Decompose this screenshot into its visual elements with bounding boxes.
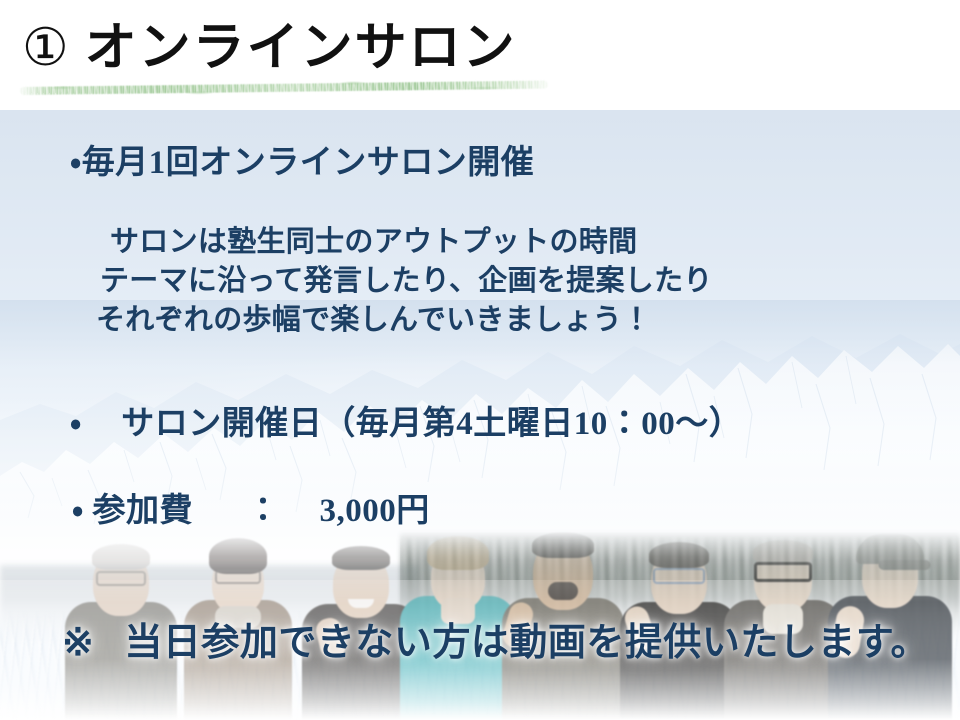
footnote-text: 当日参加できない方は動画を提供いたします。: [124, 622, 929, 664]
title-label: オンラインサロン: [85, 20, 517, 77]
salon-date-text: サロン開催日（毎月第4土曜日10：00～）: [121, 406, 742, 442]
bullet-monthly-salon: ・毎月1回オンラインサロン開催: [70, 142, 534, 184]
fee-colon: ：: [246, 493, 280, 529]
footnote-video-provided: ※ 当日参加できない方は動画を提供いたします。: [62, 618, 929, 668]
bullet-salon-date: ・ サロン開催日（毎月第4土曜日10：00～）: [70, 403, 742, 445]
bullet-marker-date: ・: [70, 406, 82, 442]
fee-label: 参加費: [92, 493, 193, 529]
description-line-1: サロンは塾生同士のアウトプットの時間: [96, 223, 713, 262]
salon-description: サロンは塾生同士のアウトプットの時間 テーマに沿って発言したり、企画を提案したり…: [96, 223, 713, 340]
description-line-2: テーマに沿って発言したり、企画を提案したり: [96, 262, 713, 301]
bullet-participation-fee: ・ 参加費 ： 3,000円: [72, 490, 430, 532]
reference-mark-icon: ※: [62, 622, 94, 664]
fee-amount: 3,000円: [319, 493, 429, 529]
slide-canvas: ・毎月1回オンラインサロン開催 サロンは塾生同士のアウトプットの時間 テーマに沿…: [0, 0, 960, 720]
title-number-badge: ①: [22, 16, 71, 82]
bullet-marker-fee: ・: [72, 493, 84, 529]
slide-body-content: ・毎月1回オンラインサロン開催 サロンは塾生同士のアウトプットの時間 テーマに沿…: [0, 110, 960, 720]
page-title: ①オンラインサロン: [22, 16, 517, 82]
description-line-3: それぞれの歩幅で楽しんでいきましょう！: [96, 301, 713, 340]
